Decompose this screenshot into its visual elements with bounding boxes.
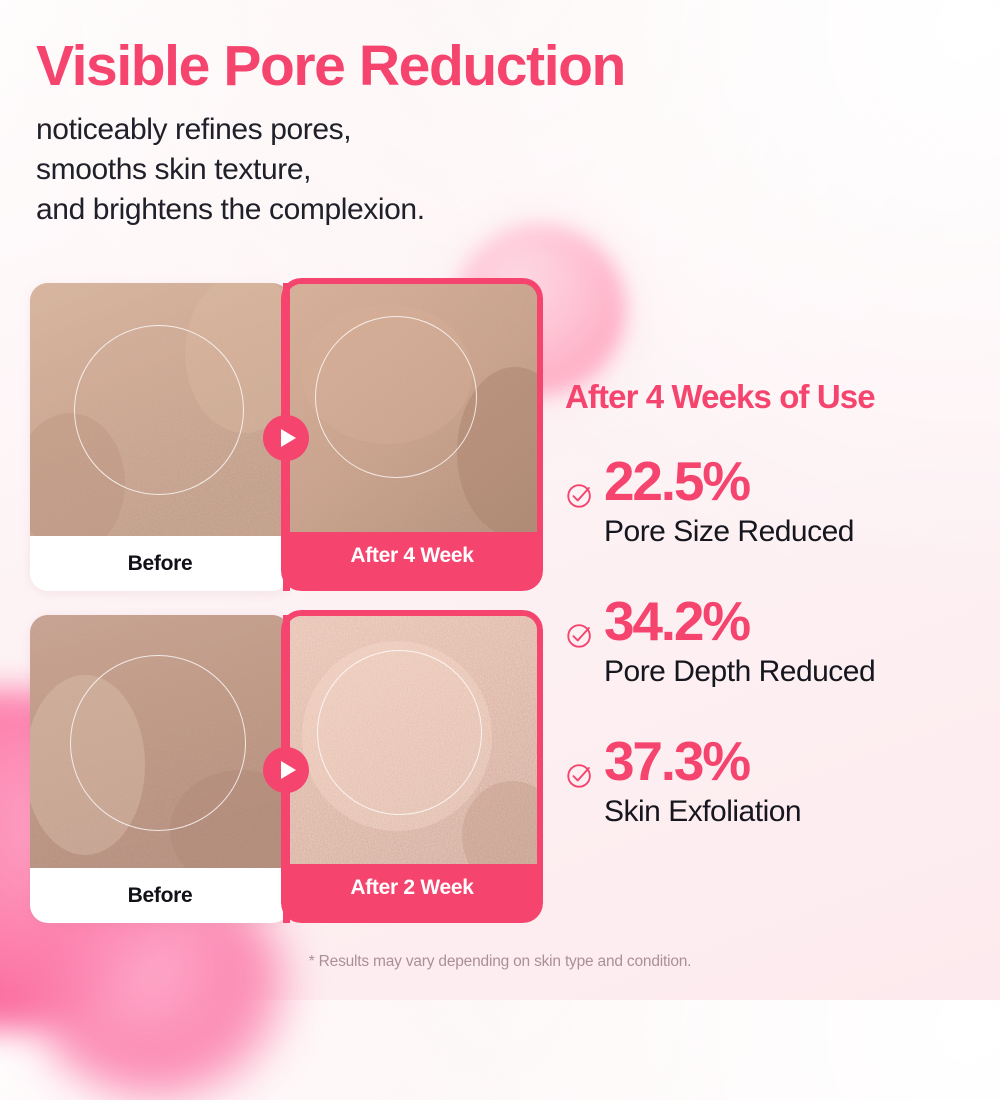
stat-value: 37.3%	[604, 734, 985, 789]
after-frame: After 4 Week	[281, 278, 543, 591]
disclaimer-footnote: * Results may vary depending on skin typ…	[0, 953, 1000, 971]
before-panel: Before	[30, 283, 290, 591]
after-frame: After 2 Week	[281, 610, 543, 923]
subheadline-line-2: smooths skin texture,	[36, 150, 796, 190]
play-triangle-icon[interactable]	[263, 415, 309, 461]
before-panel: Before	[30, 615, 290, 923]
subheadline-line-1: noticeably refines pores,	[36, 110, 796, 150]
check-circle-icon	[565, 620, 595, 650]
after-panel: After 2 Week	[281, 610, 543, 923]
stat-row: 37.3% Skin Exfoliation	[565, 734, 985, 830]
stats-panel: After 4 Weeks of Use 22.5% Pore Size Red…	[565, 378, 985, 830]
header: Visible Pore Reduction noticeably refine…	[36, 36, 796, 230]
stat-row: 22.5% Pore Size Reduced	[565, 454, 985, 550]
before-label: Before	[30, 868, 290, 923]
before-photo	[30, 615, 290, 868]
after-photo	[287, 284, 537, 532]
before-label: Before	[30, 536, 290, 591]
after-label: After 4 Week	[287, 526, 537, 585]
after-panel: After 4 Week	[281, 278, 543, 591]
subheadline-line-3: and brightens the complexion.	[36, 190, 796, 230]
stat-value: 22.5%	[604, 454, 985, 509]
subheadline: noticeably refines pores, smooths skin t…	[36, 110, 796, 230]
after-photo	[287, 616, 537, 864]
check-circle-icon	[565, 760, 595, 790]
stat-label: Pore Size Reduced	[604, 514, 985, 550]
after-label: After 2 Week	[287, 858, 537, 917]
stat-label: Pore Depth Reduced	[604, 654, 985, 690]
before-photo	[30, 283, 290, 536]
stat-label: Skin Exfoliation	[604, 794, 985, 830]
page-title: Visible Pore Reduction	[36, 36, 796, 96]
stat-row: 34.2% Pore Depth Reduced	[565, 594, 985, 690]
play-triangle-icon[interactable]	[263, 747, 309, 793]
stats-title: After 4 Weeks of Use	[565, 378, 985, 416]
check-circle-icon	[565, 480, 595, 510]
stat-value: 34.2%	[604, 594, 985, 649]
